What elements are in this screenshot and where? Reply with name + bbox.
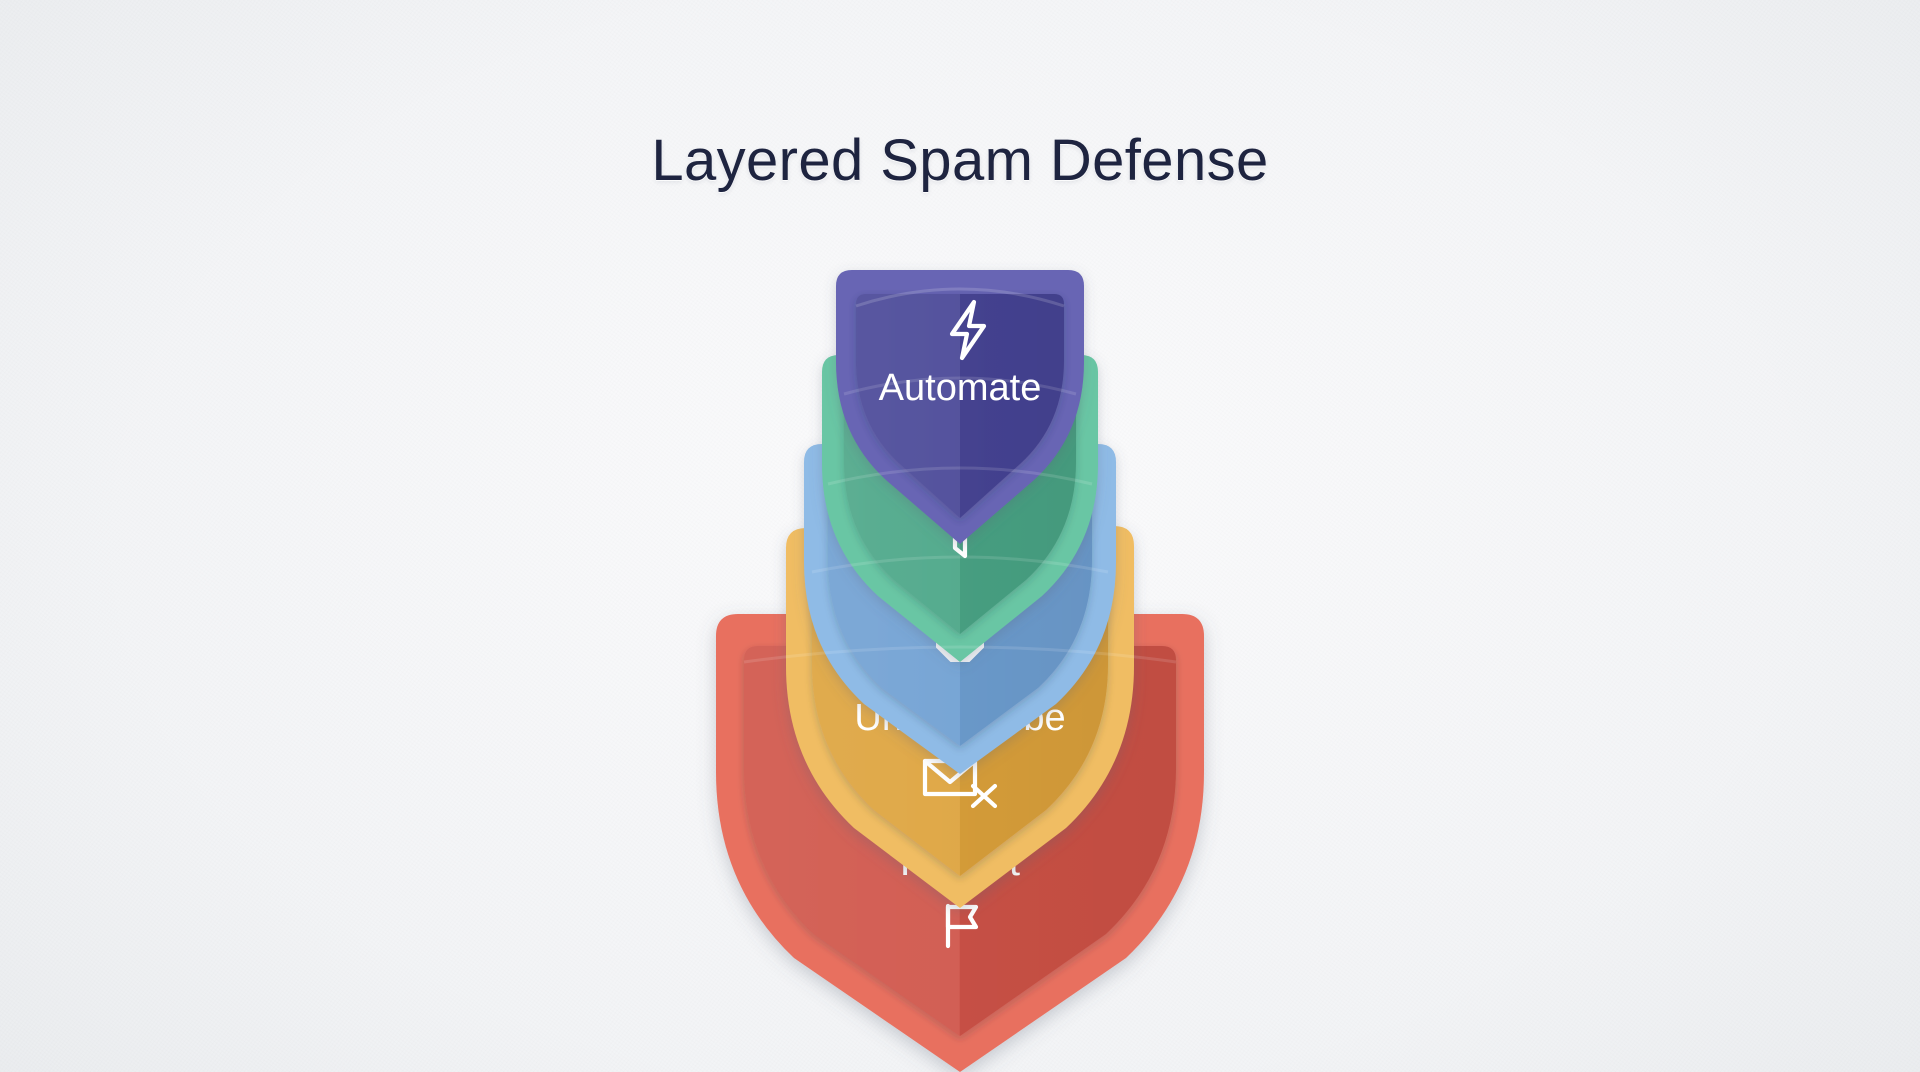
infographic-canvas: Layered Spam Defense	[0, 0, 1920, 1072]
automate-label: Automate	[879, 367, 1042, 409]
layered-shield-diagram: Report Unsubscribe	[0, 0, 1920, 1072]
